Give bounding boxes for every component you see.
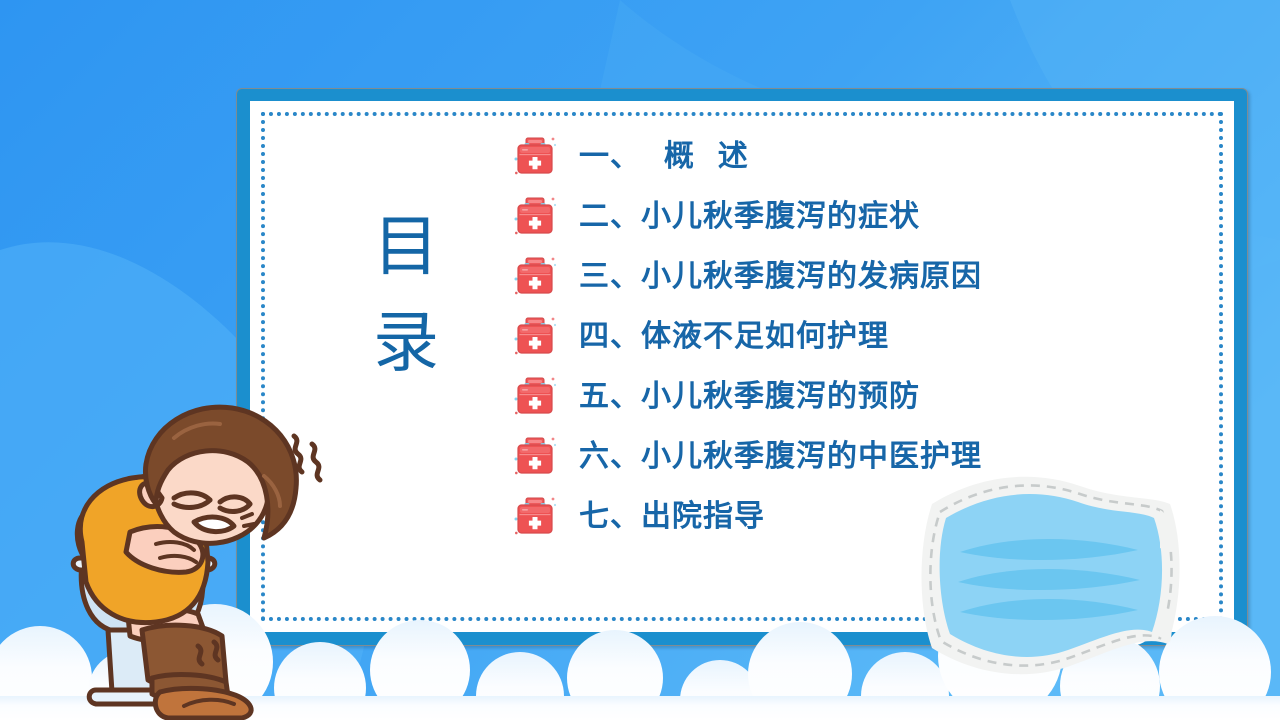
page-title-char-1: 目 (346, 199, 466, 295)
medical-kit-icon (505, 251, 563, 303)
list-item[interactable]: 三、小儿秋季腹泻的发病原因 (505, 247, 1195, 307)
list-item-label: 二、小儿秋季腹泻的症状 (579, 202, 920, 232)
page-title-char-2: 录 (346, 295, 466, 391)
list-item-label: 三、小儿秋季腹泻的发病原因 (579, 262, 982, 292)
list-item[interactable]: 一、 概 述 (505, 127, 1195, 187)
medical-kit-icon (505, 431, 563, 483)
list-item-label: 一、 概 述 (579, 142, 749, 172)
boy-on-toilet-illustration (56, 392, 356, 720)
medical-kit-icon (505, 311, 563, 363)
list-item[interactable]: 二、小儿秋季腹泻的症状 (505, 187, 1195, 247)
list-item[interactable]: 四、体液不足如何护理 (505, 307, 1195, 367)
page-title: 目 录 (346, 199, 466, 390)
list-item-label: 四、体液不足如何护理 (579, 322, 889, 352)
medical-kit-icon (505, 371, 563, 423)
medical-kit-icon (505, 191, 563, 243)
surgical-mask-illustration (884, 456, 1214, 696)
list-item-label: 五、小儿秋季腹泻的预防 (579, 382, 920, 412)
medical-kit-icon (505, 491, 563, 543)
list-item-label: 七、出院指导 (579, 502, 765, 532)
list-item[interactable]: 五、小儿秋季腹泻的预防 (505, 367, 1195, 427)
medical-kit-icon (505, 131, 563, 183)
